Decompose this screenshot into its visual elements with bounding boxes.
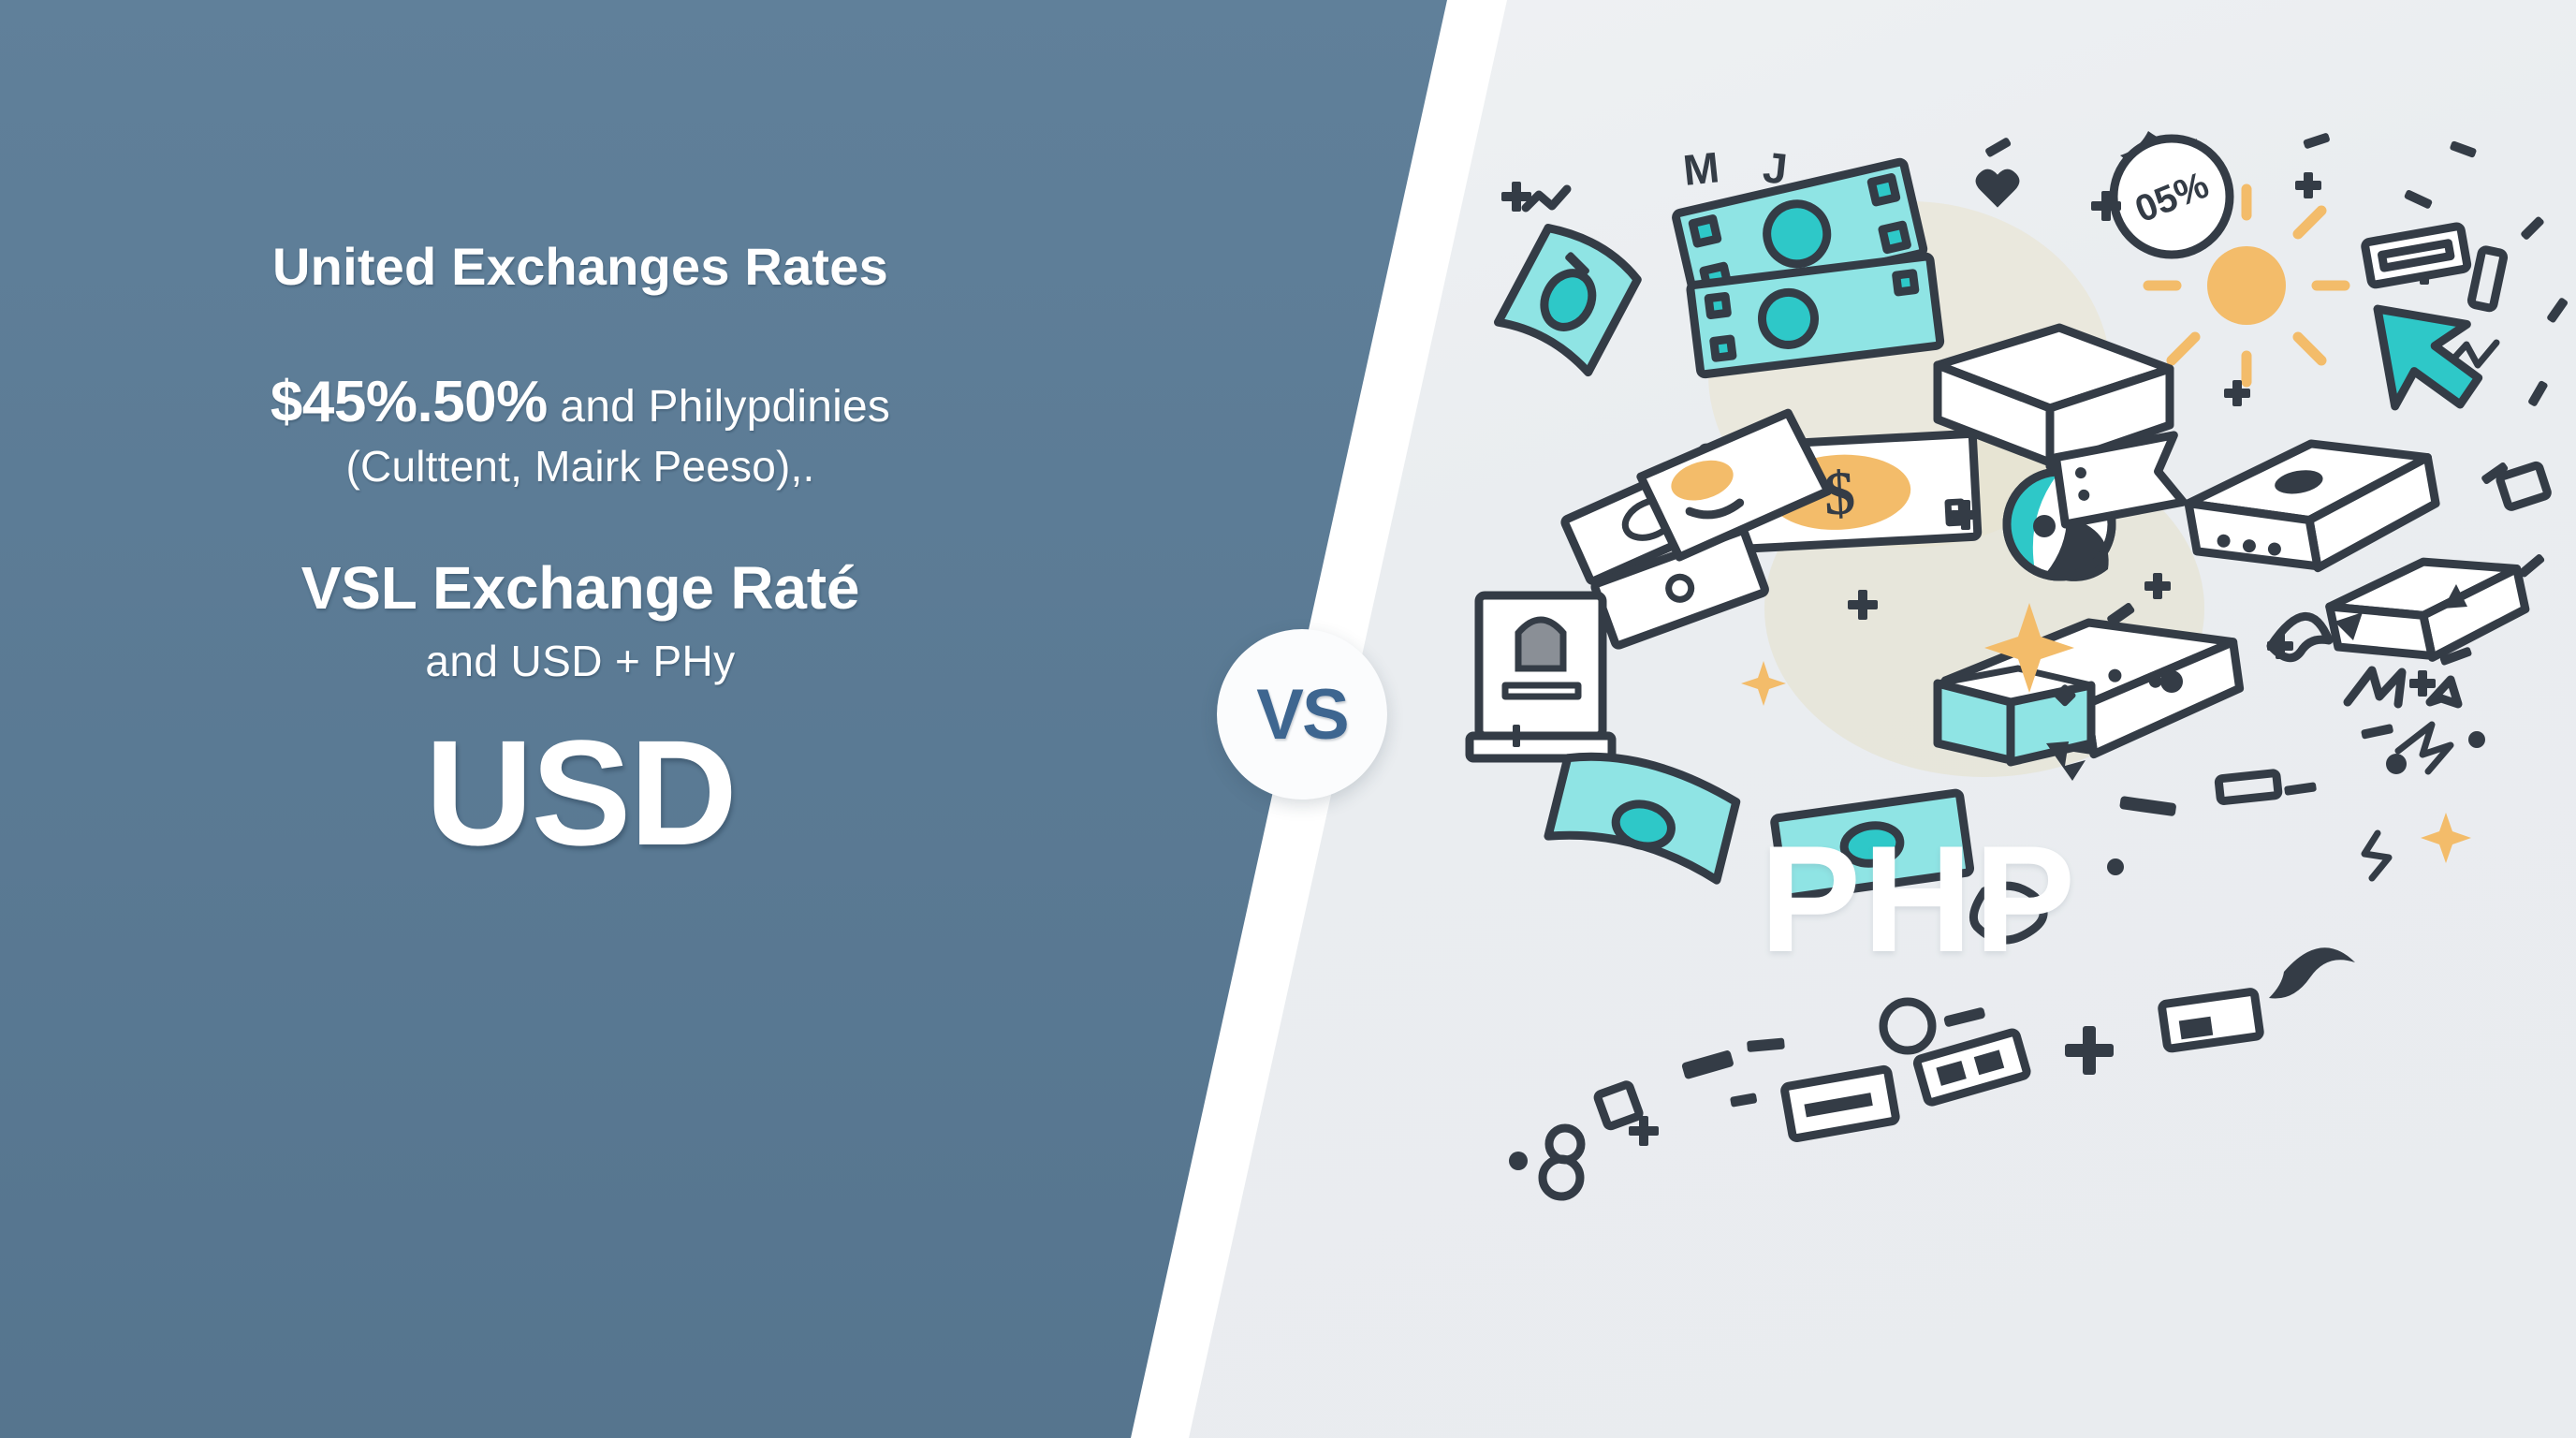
money-doodle-illustration: .ink { fill:none; stroke:#343c46; stroke… [1460, 84, 2576, 1283]
left-content-column: United Exchanges Rates $45%.50% and Phil… [0, 0, 1161, 1438]
subtitle: VSL Exchange Raté [301, 553, 860, 623]
percent-badge-doodle: 05% [2114, 139, 2230, 255]
rate-line-primary: $45%.50% and Philypdinies [271, 371, 890, 434]
banner-canvas: .ink { fill:none; stroke:#343c46; stroke… [0, 0, 2576, 1438]
subtitle-note: and USD + PHy [425, 636, 735, 686]
page-title: United Exchanges Rates [272, 236, 888, 298]
rate-amount-suffix: and Philypdinies [548, 382, 890, 432]
rate-line-secondary: (Culttent, Mairk Peeso),. [271, 434, 890, 499]
rate-amount: $45%.50% [271, 370, 548, 434]
vs-label: VS [1256, 674, 1347, 756]
bank-plaque-doodle [1470, 595, 1612, 758]
usd-currency-code: USD [425, 718, 736, 868]
vs-badge: VS [1217, 629, 1387, 800]
php-currency-code: PHP [1760, 824, 2077, 976]
rate-block: $45%.50% and Philypdinies (Culttent, Mai… [271, 371, 890, 499]
svg-text:M: M [1681, 142, 1722, 195]
